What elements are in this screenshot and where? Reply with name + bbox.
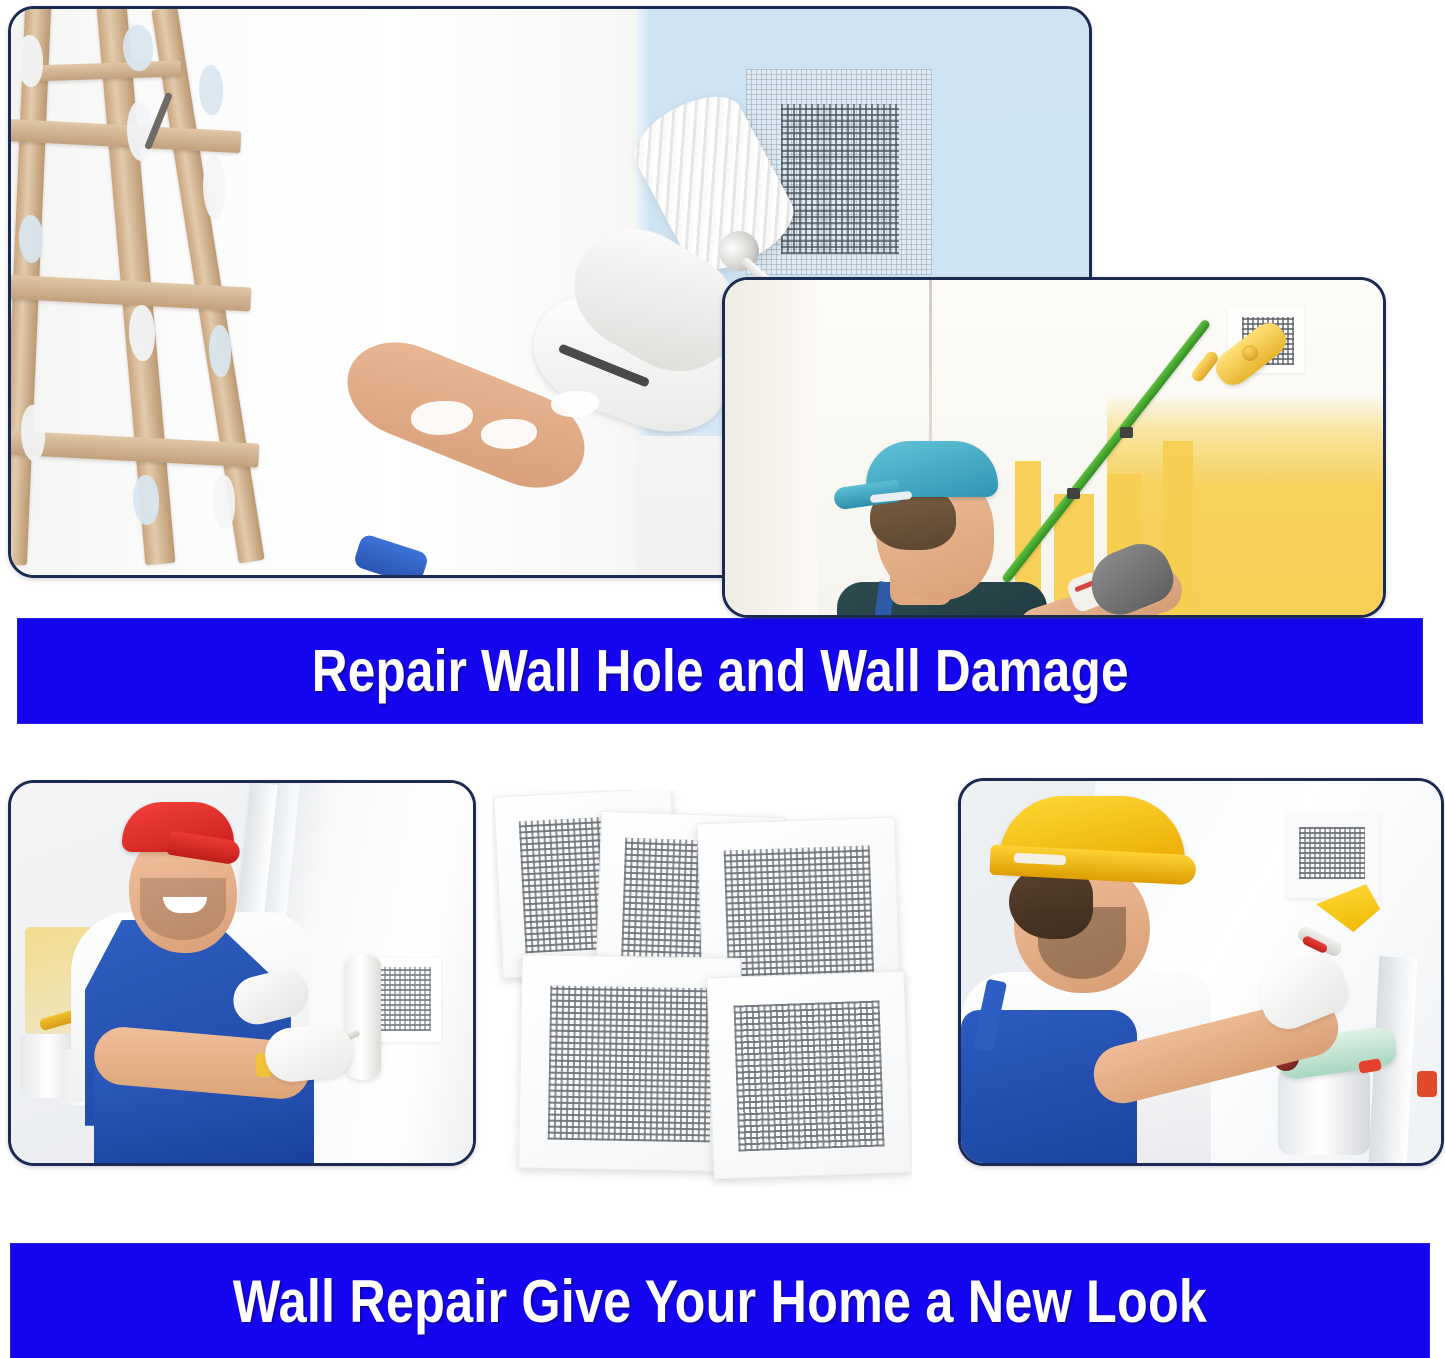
panel-product-patches: [492, 790, 912, 1188]
hard-hat-band: [1014, 852, 1066, 865]
banner-bottom: Wall Repair Give Your Home a New Look: [10, 1243, 1430, 1358]
worker-beard: [1038, 907, 1126, 979]
ladder-red-foot: [1417, 1071, 1437, 1097]
paint-splattered-ladder: [8, 6, 313, 565]
banner-bottom-text: Wall Repair Give Your Home a New Look: [233, 1267, 1207, 1336]
product-shot-scene: [492, 790, 912, 1188]
panel-red-cap-scene: [11, 783, 473, 1163]
panel-hardhat-scene: [961, 781, 1441, 1163]
panel-hardhat-worker: [958, 778, 1444, 1166]
banner-top-text: Repair Wall Hole and Wall Damage: [312, 637, 1129, 705]
pole-joint-upper: [1120, 427, 1133, 438]
paint-pail: [1278, 1071, 1370, 1155]
panel-blue-cap-scene: [725, 280, 1383, 615]
panel-blue-cap-painter: [722, 277, 1386, 618]
side-wall: [725, 280, 817, 615]
mesh-patch-5: [707, 971, 912, 1180]
infographic-canvas: Repair Wall Hole and Wall Damage: [0, 0, 1445, 1358]
panel-red-cap-painter: [8, 780, 476, 1166]
pole-joint-lower: [1067, 488, 1080, 499]
banner-top: Repair Wall Hole and Wall Damage: [17, 618, 1423, 724]
mesh-repair-patch-core: [1299, 827, 1365, 879]
